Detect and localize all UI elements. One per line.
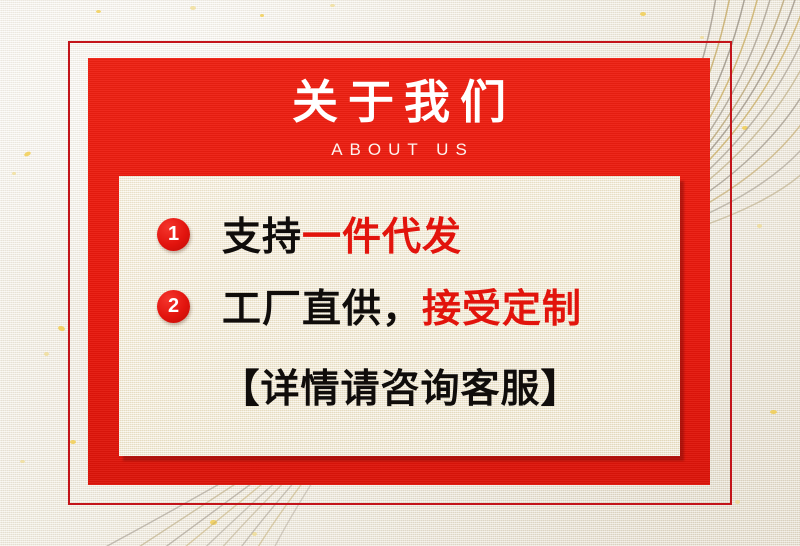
list-item-text-2: 工厂直供，接受定制 <box>222 278 582 334</box>
list-item-2-dark-text: 工厂直供， <box>222 288 422 331</box>
customer-service-note: 【详情请咨询客服】 <box>141 358 660 414</box>
list-item-1-red-text: 一件代发 <box>302 216 462 259</box>
info-card: 1 支持一件代发 2 工厂直供，接受定制 【详情请咨询客服】 <box>119 176 680 456</box>
list-item: 2 工厂直供，接受定制 <box>141 270 660 342</box>
page-title: 关于我们 <box>88 78 710 126</box>
list-item: 1 支持一件代发 <box>141 198 660 270</box>
list-item-1-dark-text: 支持 <box>222 216 302 259</box>
about-us-poster: 关于我们 ABOUT US 1 支持一件代发 2 工厂直供，接受定制 【详情请咨… <box>0 0 800 546</box>
badge-number-1: 1 <box>157 218 190 251</box>
list-item-2-red-text: 接受定制 <box>422 288 582 331</box>
badge-number-2: 2 <box>157 290 190 323</box>
page-subtitle: ABOUT US <box>88 140 710 160</box>
list-item-text-1: 支持一件代发 <box>222 206 462 262</box>
heading-block: 关于我们 ABOUT US <box>88 78 710 160</box>
